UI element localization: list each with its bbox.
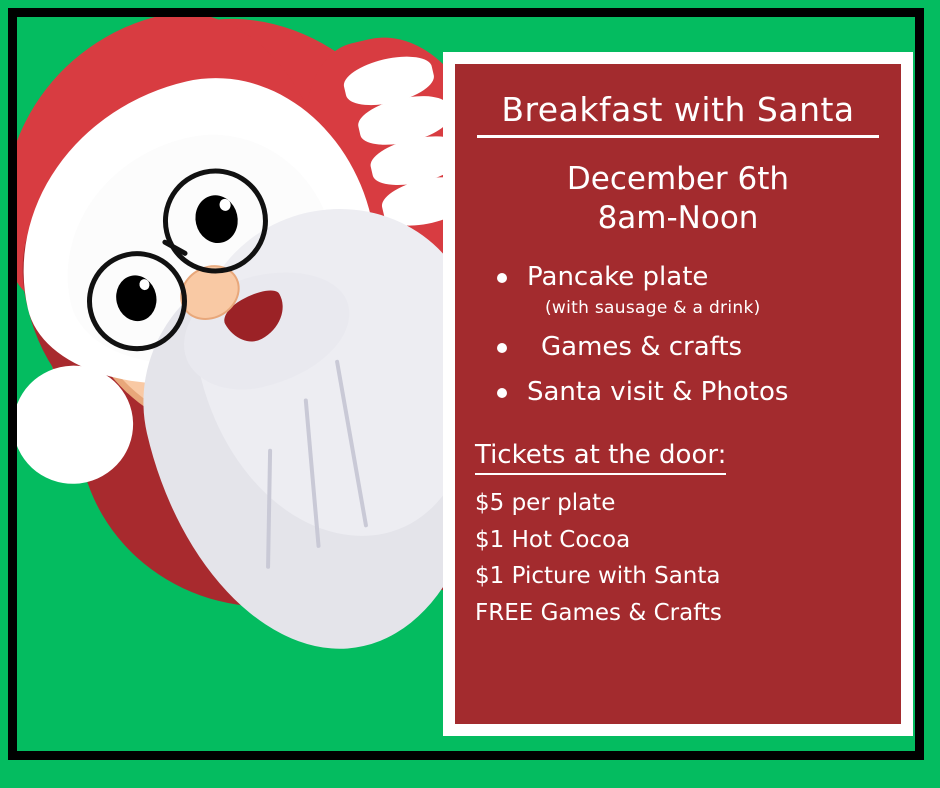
list-item: FREE Games & Crafts [475,595,881,632]
feature-label: Games & crafts [541,332,742,362]
event-info-card: Breakfast with Santa December 6th 8am-No… [443,52,913,736]
feature-sublabel: (with sausage & a drink) [527,297,881,320]
event-info-panel: Breakfast with Santa December 6th 8am-No… [455,64,901,724]
ticket-prices-list: $5 per plate $1 Hot Cocoa $1 Picture wit… [475,485,881,632]
bullet-icon [497,343,507,353]
event-time: 8am-Noon [475,199,881,238]
event-date: December 6th [475,160,881,199]
feature-label: Pancake plate [527,262,708,292]
event-features-list: Pancake plate (with sausage & a drink) G… [493,260,881,420]
list-item: Games & crafts [493,330,881,365]
list-item: $1 Hot Cocoa [475,522,881,559]
list-item: Pancake plate (with sausage & a drink) [493,260,881,320]
list-item: Santa visit & Photos [493,375,881,410]
event-title: Breakfast with Santa [477,90,879,138]
bullet-icon [497,273,507,283]
feature-label: Santa visit & Photos [527,377,788,407]
list-item: $1 Picture with Santa [475,558,881,595]
list-item: $5 per plate [475,485,881,522]
tickets-heading: Tickets at the door: [475,440,726,475]
bullet-icon [497,388,507,398]
poster-canvas: Breakfast with Santa December 6th 8am-No… [0,0,940,788]
